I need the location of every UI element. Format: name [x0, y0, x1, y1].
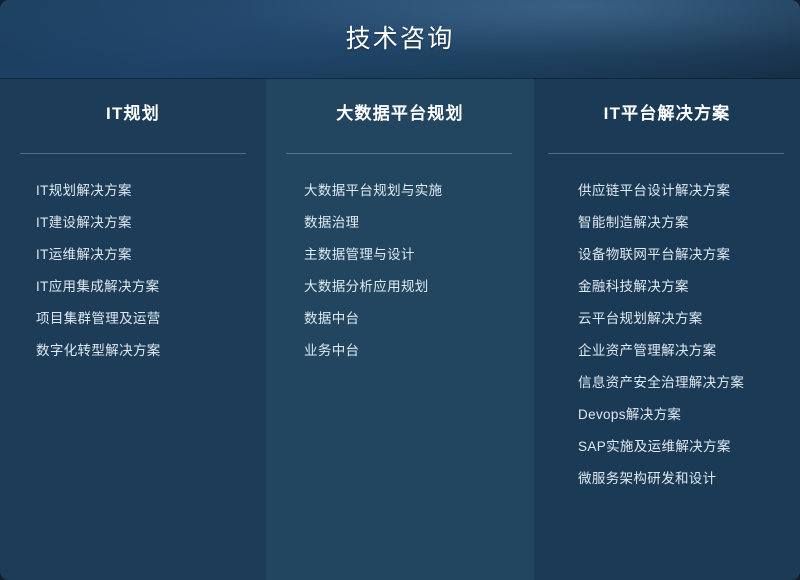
column-item-list: IT规划解决方案 IT建设解决方案 IT运维解决方案 IT应用集成解决方案 项目… — [0, 154, 266, 367]
list-item[interactable]: 数据治理 — [266, 207, 534, 239]
list-item[interactable]: Devops解决方案 — [534, 399, 800, 431]
list-item[interactable]: IT应用集成解决方案 — [0, 271, 266, 303]
list-item[interactable]: 供应链平台设计解决方案 — [534, 175, 800, 207]
column-it-planning: IT规划 IT规划解决方案 IT建设解决方案 IT运维解决方案 IT应用集成解决… — [0, 79, 266, 580]
list-item[interactable]: 智能制造解决方案 — [534, 207, 800, 239]
list-item[interactable]: 信息资产安全治理解决方案 — [534, 367, 800, 399]
list-item[interactable]: 金融科技解决方案 — [534, 271, 800, 303]
column-it-platform-solutions: IT平台解决方案 供应链平台设计解决方案 智能制造解决方案 设备物联网平台解决方… — [534, 79, 800, 580]
panel-header: 技术咨询 — [0, 0, 800, 79]
list-item[interactable]: 企业资产管理解决方案 — [534, 335, 800, 367]
list-item[interactable]: 项目集群管理及运营 — [0, 303, 266, 335]
column-heading: IT规划 — [0, 105, 266, 122]
tech-consulting-panel: 技术咨询 IT规划 IT规划解决方案 IT建设解决方案 IT运维解决方案 IT应… — [0, 0, 800, 580]
column-heading: 大数据平台规划 — [266, 105, 534, 122]
list-item[interactable]: 主数据管理与设计 — [266, 239, 534, 271]
list-item[interactable]: 设备物联网平台解决方案 — [534, 239, 800, 271]
list-item[interactable]: 大数据分析应用规划 — [266, 271, 534, 303]
list-item[interactable]: SAP实施及运维解决方案 — [534, 431, 800, 463]
list-item[interactable]: 数字化转型解决方案 — [0, 335, 266, 367]
list-item[interactable]: 云平台规划解决方案 — [534, 303, 800, 335]
column-item-list: 供应链平台设计解决方案 智能制造解决方案 设备物联网平台解决方案 金融科技解决方… — [534, 154, 800, 495]
list-item[interactable]: 大数据平台规划与实施 — [266, 175, 534, 207]
columns-container: IT规划 IT规划解决方案 IT建设解决方案 IT运维解决方案 IT应用集成解决… — [0, 79, 800, 580]
list-item[interactable]: 业务中台 — [266, 335, 534, 367]
list-item[interactable]: 微服务架构研发和设计 — [534, 463, 800, 495]
list-item[interactable]: IT建设解决方案 — [0, 207, 266, 239]
page-title: 技术咨询 — [346, 27, 455, 52]
column-item-list: 大数据平台规划与实施 数据治理 主数据管理与设计 大数据分析应用规划 数据中台 … — [266, 154, 534, 367]
list-item[interactable]: 数据中台 — [266, 303, 534, 335]
list-item[interactable]: IT运维解决方案 — [0, 239, 266, 271]
list-item[interactable]: IT规划解决方案 — [0, 175, 266, 207]
column-bigdata-platform-planning: 大数据平台规划 大数据平台规划与实施 数据治理 主数据管理与设计 大数据分析应用… — [266, 79, 534, 580]
column-heading: IT平台解决方案 — [534, 105, 800, 122]
